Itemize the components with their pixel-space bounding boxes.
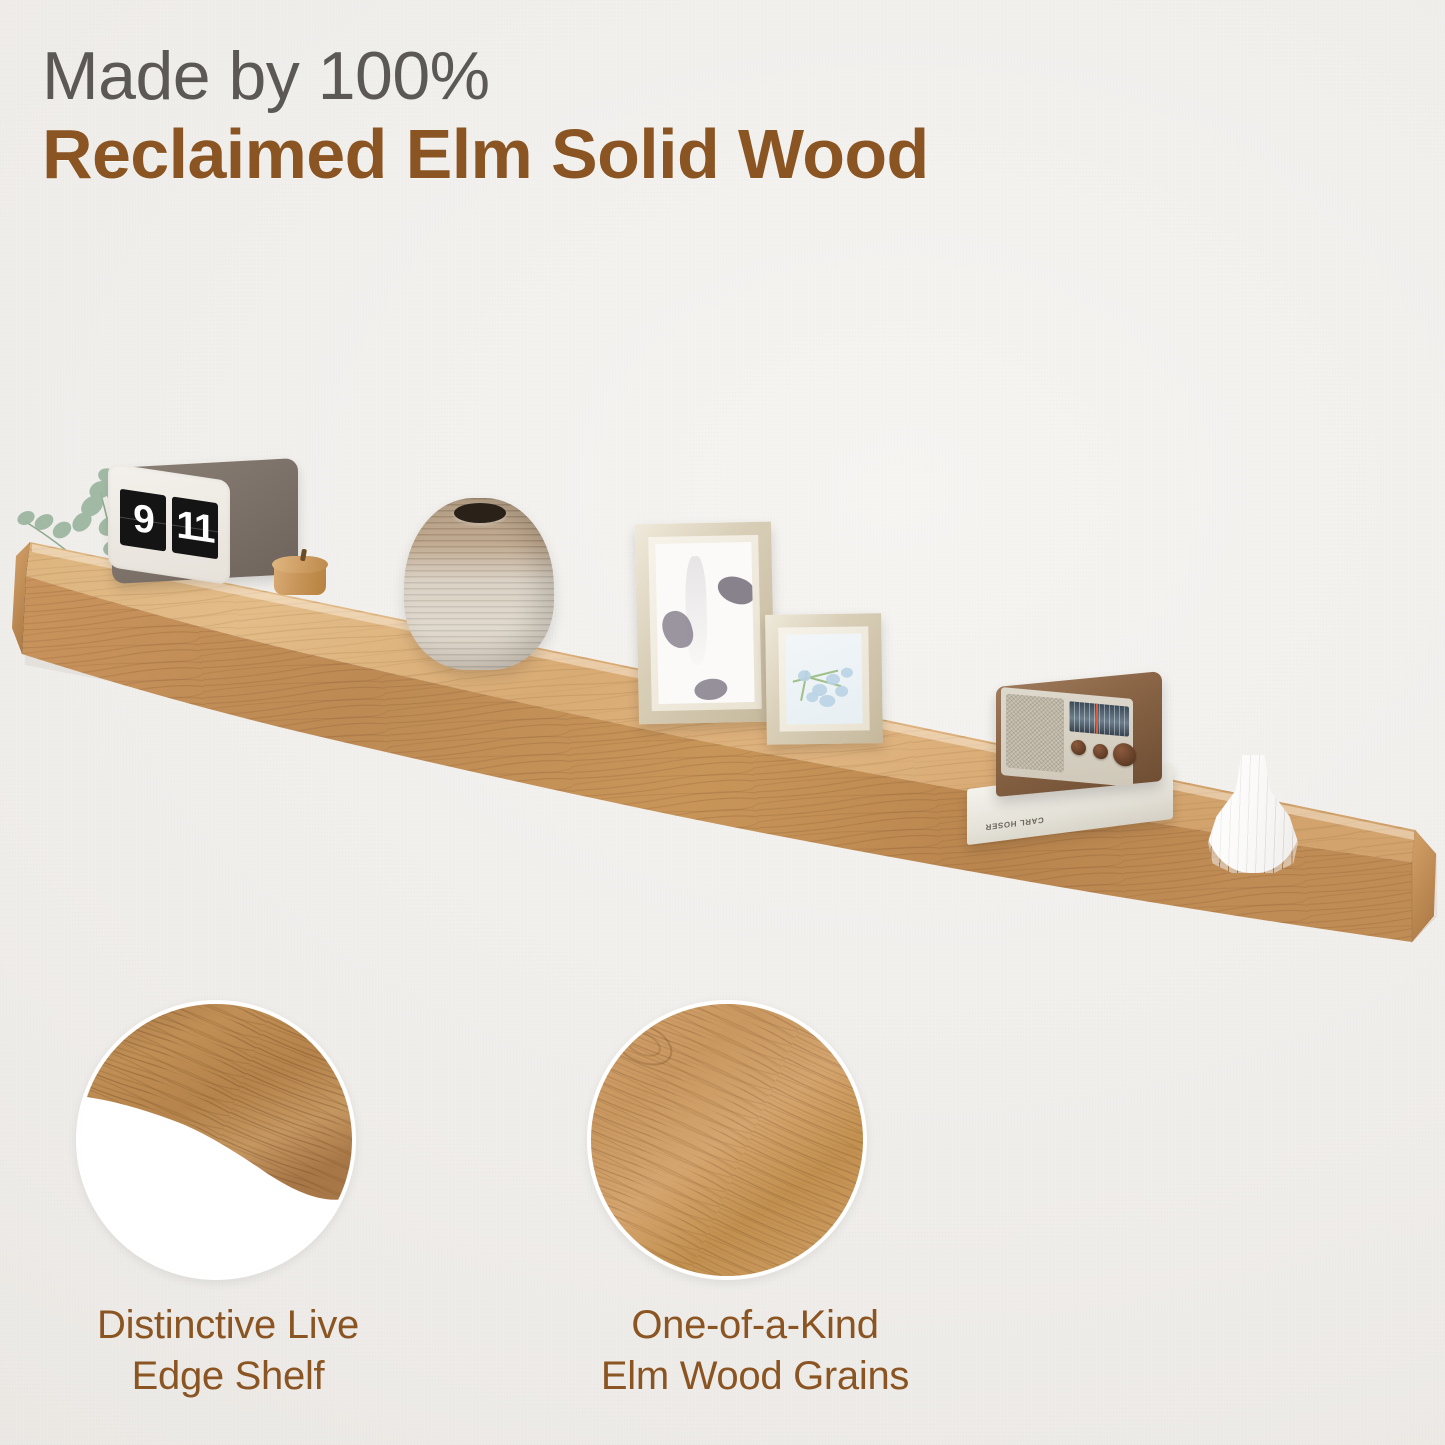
headline: Made by 100% Reclaimed Elm Solid Wood	[42, 42, 1142, 191]
shelf-right-end	[1412, 830, 1436, 942]
radio-tuning-dial	[1069, 701, 1129, 736]
detail-wood-grain-caption: One-of-a-Kind Elm Wood Grains	[555, 1300, 955, 1402]
radio-front-panel	[1001, 687, 1133, 787]
detail-live-edge-circle	[76, 1000, 356, 1280]
ceramic-vase	[404, 498, 554, 670]
ceramic-vase-ribs	[404, 498, 554, 670]
shelf-assembly: 9 11	[0, 430, 1445, 1030]
flip-clock-face: 9 11	[108, 463, 230, 585]
radio-knob-left	[1071, 739, 1086, 755]
radio-speaker-grille	[1006, 693, 1064, 772]
white-vase-facets	[1205, 755, 1301, 873]
headline-line-2: Reclaimed Elm Solid Wood	[42, 119, 1142, 190]
flip-clock-hour: 9	[120, 489, 166, 552]
picture-frame-large	[635, 522, 775, 725]
wooden-lidded-pot	[272, 546, 328, 598]
flip-clock: 9 11	[112, 463, 298, 579]
caption-line-2: Elm Wood Grains	[601, 1354, 909, 1398]
detail-live-edge-caption: Distinctive Live Edge Shelf	[28, 1300, 428, 1402]
headline-line-1: Made by 100%	[42, 42, 1142, 111]
vintage-radio	[996, 679, 1162, 789]
caption-line-2: Edge Shelf	[132, 1354, 325, 1398]
frame-artwork-abstract	[655, 542, 754, 704]
product-marketing-image: Made by 100% Reclaimed Elm Solid Wood	[0, 0, 1445, 1445]
frame-artwork-floral	[785, 633, 862, 724]
ceramic-vase-body	[404, 498, 554, 670]
ceramic-vase-opening	[454, 503, 506, 523]
white-vase	[1205, 755, 1301, 873]
radio-knob-middle	[1093, 743, 1108, 759]
caption-line-1: One-of-a-Kind	[631, 1303, 878, 1347]
caption-line-1: Distinctive Live	[97, 1303, 359, 1347]
detail-wood-grain-circle	[587, 1000, 867, 1280]
radio-knob-tuner	[1113, 742, 1136, 767]
picture-frame-small	[765, 613, 883, 745]
flip-clock-minute: 11	[172, 496, 218, 559]
